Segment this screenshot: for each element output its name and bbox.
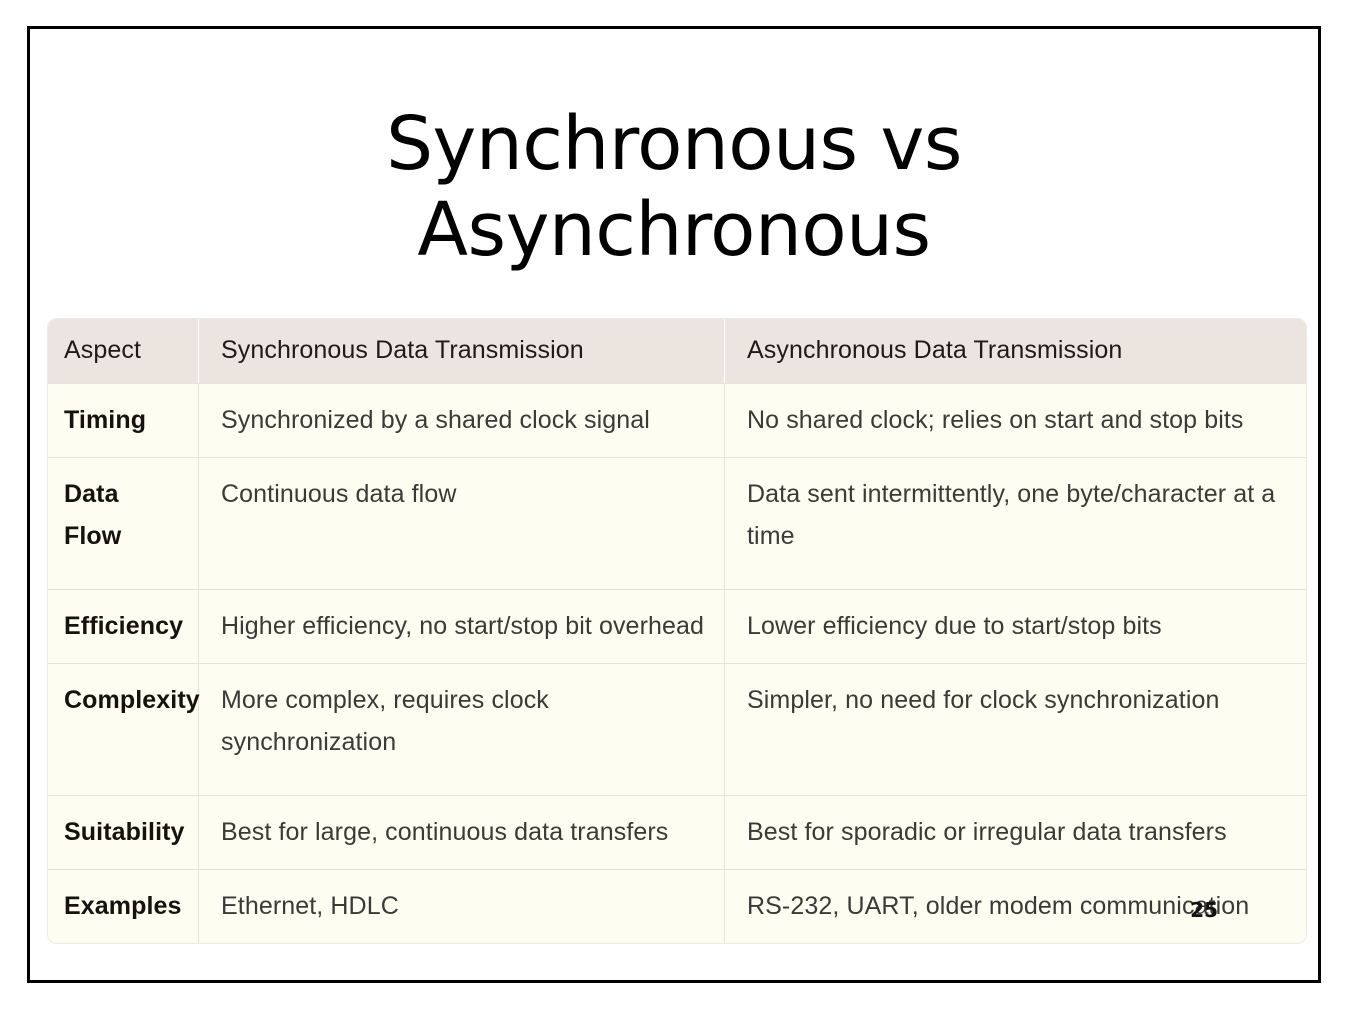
cell-aspect: Timing (48, 383, 198, 457)
cell-aspect: Examples (48, 869, 198, 943)
cell-synchronous: More complex, requires clock synchroniza… (198, 663, 724, 795)
table-header-row: Aspect Synchronous Data Transmission Asy… (48, 319, 1306, 383)
cell-asynchronous: No shared clock; relies on start and sto… (724, 383, 1306, 457)
comparison-table: Aspect Synchronous Data Transmission Asy… (48, 319, 1306, 943)
cell-synchronous: Synchronized by a shared clock signal (198, 383, 724, 457)
table-row: Examples Ethernet, HDLC RS-232, UART, ol… (48, 869, 1306, 943)
cell-synchronous: Continuous data flow (198, 457, 724, 589)
cell-aspect: Suitability (48, 795, 198, 869)
slide-frame: Synchronous vs Asynchronous Aspect Synch… (27, 26, 1321, 983)
table-row: Complexity More complex, requires clock … (48, 663, 1306, 795)
table-row: Data Flow Continuous data flow Data sent… (48, 457, 1306, 589)
cell-synchronous: Higher efficiency, no start/stop bit ove… (198, 589, 724, 663)
cell-asynchronous: RS-232, UART, older modem communication (724, 869, 1306, 943)
column-header-asynchronous: Asynchronous Data Transmission (724, 319, 1306, 383)
cell-aspect: Efficiency (48, 589, 198, 663)
cell-aspect: Data Flow (48, 457, 198, 589)
table-row: Suitability Best for large, continuous d… (48, 795, 1306, 869)
comparison-table-container: Aspect Synchronous Data Transmission Asy… (48, 319, 1306, 943)
cell-synchronous: Best for large, continuous data transfer… (198, 795, 724, 869)
page-title-line-1: Synchronous vs (30, 101, 1318, 187)
page-number: 25 (1190, 898, 1218, 922)
table-row: Timing Synchronized by a shared clock si… (48, 383, 1306, 457)
cell-asynchronous: Simpler, no need for clock synchronizati… (724, 663, 1306, 795)
table-body: Timing Synchronized by a shared clock si… (48, 383, 1306, 943)
cell-asynchronous: Best for sporadic or irregular data tran… (724, 795, 1306, 869)
cell-synchronous: Ethernet, HDLC (198, 869, 724, 943)
table-header: Aspect Synchronous Data Transmission Asy… (48, 319, 1306, 383)
column-header-aspect: Aspect (48, 319, 198, 383)
cell-aspect: Complexity (48, 663, 198, 795)
cell-asynchronous: Lower efficiency due to start/stop bits (724, 589, 1306, 663)
column-header-synchronous: Synchronous Data Transmission (198, 319, 724, 383)
table-row: Efficiency Higher efficiency, no start/s… (48, 589, 1306, 663)
cell-asynchronous: Data sent intermittently, one byte/chara… (724, 457, 1306, 589)
page-title: Synchronous vs Asynchronous (30, 101, 1318, 273)
page-title-line-2: Asynchronous (30, 187, 1318, 273)
